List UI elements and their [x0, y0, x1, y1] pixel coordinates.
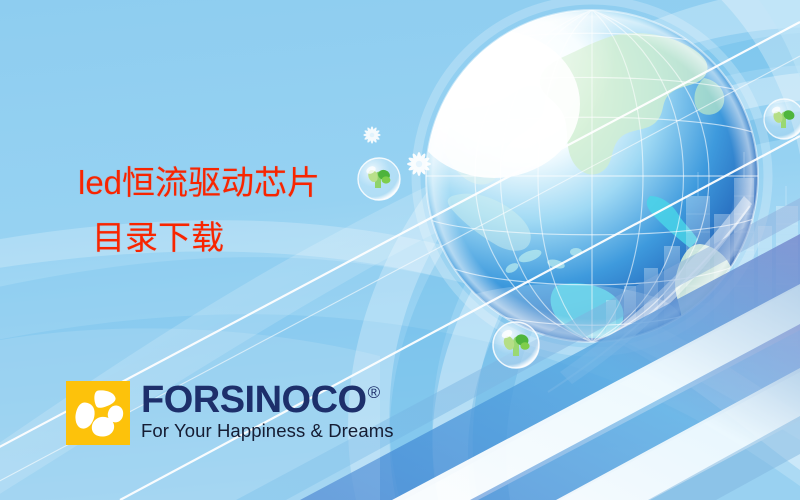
- company-logo: FORSINOCO ® For Your Happiness & Dreams: [66, 381, 394, 445]
- headline-line-1: led恒流驱动芯片: [78, 162, 320, 205]
- logo-wordmark: FORSINOCO ®: [141, 382, 394, 418]
- registered-trademark-icon: ®: [368, 384, 380, 401]
- logo-wordmark-text: FORSINOCO: [141, 382, 367, 418]
- headline-line-2: 目录下载: [78, 217, 320, 260]
- logo-tagline: For Your Happiness & Dreams: [141, 421, 394, 441]
- logo-text-block: FORSINOCO ® For Your Happiness & Dreams: [141, 381, 394, 441]
- headline: led恒流驱动芯片 目录下载: [78, 162, 320, 260]
- promo-banner: led恒流驱动芯片 目录下载 FORSINOCO ® For Your Happ…: [0, 0, 800, 500]
- forsinoco-flower-mark-icon: [66, 381, 130, 445]
